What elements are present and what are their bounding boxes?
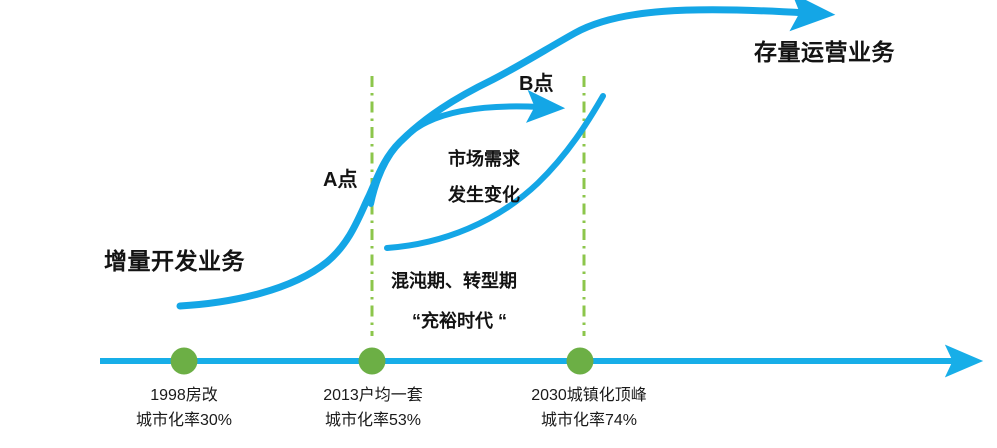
timeline-caption-line1: 2030城镇化顶峰 — [509, 384, 669, 409]
timeline-caption-line1: 1998房改 — [114, 384, 254, 409]
market-demand-label-line1: 市场需求 — [448, 150, 520, 168]
stage-label-left: 增量开发业务 — [104, 250, 245, 273]
timeline-marker-dot[interactable] — [359, 348, 386, 375]
timeline-marker-dot[interactable] — [567, 348, 594, 375]
diagram-canvas: 增量开发业务 存量运营业务 A点 B点 市场需求 发生变化 混沌期、转型期 “充… — [0, 0, 997, 448]
market-demand-lower-arc — [387, 96, 603, 248]
abundant-era-label: “充裕时代 “ — [412, 312, 507, 330]
timeline-caption-line2: 城市化率74% — [509, 409, 669, 434]
timeline-caption-2030: 2030城镇化顶峰 城市化率74% — [509, 384, 669, 434]
timeline-caption-1998: 1998房改 城市化率30% — [114, 384, 254, 434]
timeline-caption-line2: 城市化率53% — [300, 409, 446, 434]
timeline-caption-2013: 2013户均一套 城市化率53% — [300, 384, 446, 434]
stage-label-right: 存量运营业务 — [754, 41, 895, 64]
point-b-label: B点 — [519, 74, 553, 94]
market-demand-label-line2: 发生变化 — [448, 186, 520, 204]
timeline-marker-dot[interactable] — [171, 348, 198, 375]
transition-period-label: 混沌期、转型期 — [391, 272, 517, 290]
timeline-caption-line2: 城市化率30% — [114, 409, 254, 434]
curves-layer — [0, 0, 997, 448]
timeline-caption-line1: 2013户均一套 — [300, 384, 446, 409]
point-a-label: A点 — [323, 170, 357, 190]
